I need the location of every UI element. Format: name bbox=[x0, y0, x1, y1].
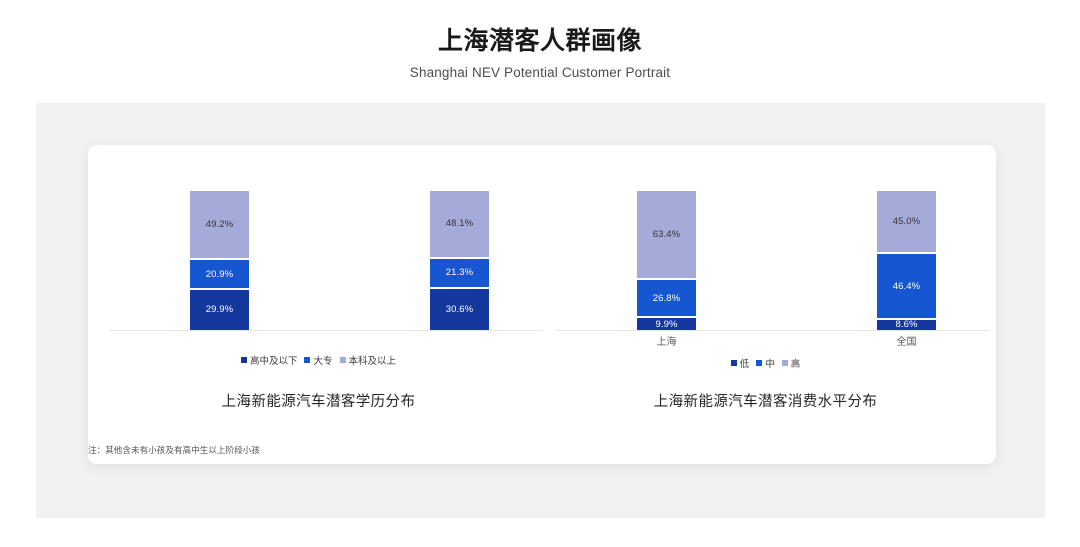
bar-segment-low[interactable]: 30.6% bbox=[429, 288, 490, 331]
chart-card: 49.2%20.9%29.9% 48.1%21.3%30.6% 高中及以下大专本… bbox=[88, 145, 996, 464]
bar-segment-value-label: 9.9% bbox=[655, 319, 677, 330]
bar-segment-low[interactable]: 9.9% bbox=[636, 317, 697, 331]
bar-segment-high[interactable]: 49.2% bbox=[189, 190, 250, 259]
bar-segment-value-label: 29.9% bbox=[206, 304, 233, 315]
page-header: 上海潜客人群画像 Shanghai NEV Potential Customer… bbox=[0, 0, 1080, 80]
stacked-bar[interactable]: 49.2%20.9%29.9% bbox=[189, 190, 250, 331]
plot-area-education: 49.2%20.9%29.9% 48.1%21.3%30.6% bbox=[109, 190, 542, 331]
bar-segment-mid[interactable]: 21.3% bbox=[429, 258, 490, 288]
bar-segment-value-label: 48.1% bbox=[446, 218, 473, 229]
chart-legend: 低中高 bbox=[542, 356, 989, 370]
bar-segment-value-label: 63.4% bbox=[653, 229, 680, 240]
legend-swatch-icon bbox=[782, 360, 788, 366]
footnote: 注：其他含未有小孩及有高中生以上阶段小孩 bbox=[88, 444, 260, 456]
chart-consumption-level-distribution: 63.4%26.8%9.9% 45.0%46.4%8.6% 上海全国 低中高 上… bbox=[542, 145, 989, 464]
legend-label: 高 bbox=[791, 356, 801, 370]
page-subtitle: Shanghai NEV Potential Customer Portrait bbox=[0, 56, 1080, 80]
bar-segment-value-label: 21.3% bbox=[446, 267, 473, 278]
page-title: 上海潜客人群画像 bbox=[0, 0, 1080, 56]
stacked-bar[interactable]: 48.1%21.3%30.6% bbox=[429, 190, 490, 331]
legend-label: 大专 bbox=[313, 353, 332, 367]
bar-segment-low[interactable]: 29.9% bbox=[189, 289, 250, 331]
bar-segment-value-label: 49.2% bbox=[206, 219, 233, 230]
legend-item[interactable]: 高中及以下 bbox=[241, 353, 298, 367]
bar-segment-value-label: 45.0% bbox=[893, 216, 920, 227]
bar-segment-value-label: 26.8% bbox=[653, 293, 680, 304]
x-axis-line bbox=[556, 330, 989, 331]
stacked-bar[interactable]: 45.0%46.4%8.6% bbox=[876, 190, 937, 331]
legend-label: 中 bbox=[765, 356, 775, 370]
legend-swatch-icon bbox=[731, 360, 737, 366]
plot-area-consumption: 63.4%26.8%9.9% 45.0%46.4%8.6% bbox=[556, 190, 989, 331]
legend-swatch-icon bbox=[304, 357, 310, 363]
legend-label: 高中及以下 bbox=[250, 353, 298, 367]
bar-segment-mid[interactable]: 46.4% bbox=[876, 253, 937, 318]
legend-swatch-icon bbox=[340, 357, 346, 363]
bar-segment-high[interactable]: 45.0% bbox=[876, 190, 937, 253]
x-axis-line bbox=[109, 330, 542, 331]
legend-swatch-icon bbox=[241, 357, 247, 363]
bar-segment-mid[interactable]: 20.9% bbox=[189, 259, 250, 288]
x-axis-tick-labels: 上海全国 bbox=[556, 333, 989, 351]
x-axis-tick-labels bbox=[109, 333, 542, 351]
bar-segment-value-label: 46.4% bbox=[893, 281, 920, 292]
bar-segment-value-label: 30.6% bbox=[446, 304, 473, 315]
charts-row: 49.2%20.9%29.9% 48.1%21.3%30.6% 高中及以下大专本… bbox=[88, 145, 996, 464]
chart-legend: 高中及以下大专本科及以上 bbox=[95, 353, 542, 367]
legend-item[interactable]: 高 bbox=[782, 356, 801, 370]
bar-segment-high[interactable]: 63.4% bbox=[636, 190, 697, 279]
chart-caption: 上海新能源汽车潜客学历分布 bbox=[95, 390, 542, 411]
legend-item[interactable]: 中 bbox=[756, 356, 775, 370]
bar-segment-value-label: 20.9% bbox=[206, 269, 233, 280]
chart-education-distribution: 49.2%20.9%29.9% 48.1%21.3%30.6% 高中及以下大专本… bbox=[95, 145, 542, 464]
legend-label: 低 bbox=[740, 356, 750, 370]
x-axis-tick-label: 全国 bbox=[876, 333, 937, 348]
x-axis-tick-label: 上海 bbox=[636, 333, 697, 348]
legend-item[interactable]: 低 bbox=[731, 356, 750, 370]
legend-item[interactable]: 本科及以上 bbox=[340, 353, 397, 367]
bar-segment-value-label: 8.6% bbox=[895, 319, 917, 330]
chart-caption: 上海新能源汽车潜客消费水平分布 bbox=[542, 390, 989, 411]
legend-swatch-icon bbox=[756, 360, 762, 366]
bar-segment-mid[interactable]: 26.8% bbox=[636, 279, 697, 317]
bar-segment-high[interactable]: 48.1% bbox=[429, 190, 490, 258]
legend-item[interactable]: 大专 bbox=[304, 353, 332, 367]
legend-label: 本科及以上 bbox=[349, 353, 397, 367]
stacked-bar[interactable]: 63.4%26.8%9.9% bbox=[636, 190, 697, 331]
